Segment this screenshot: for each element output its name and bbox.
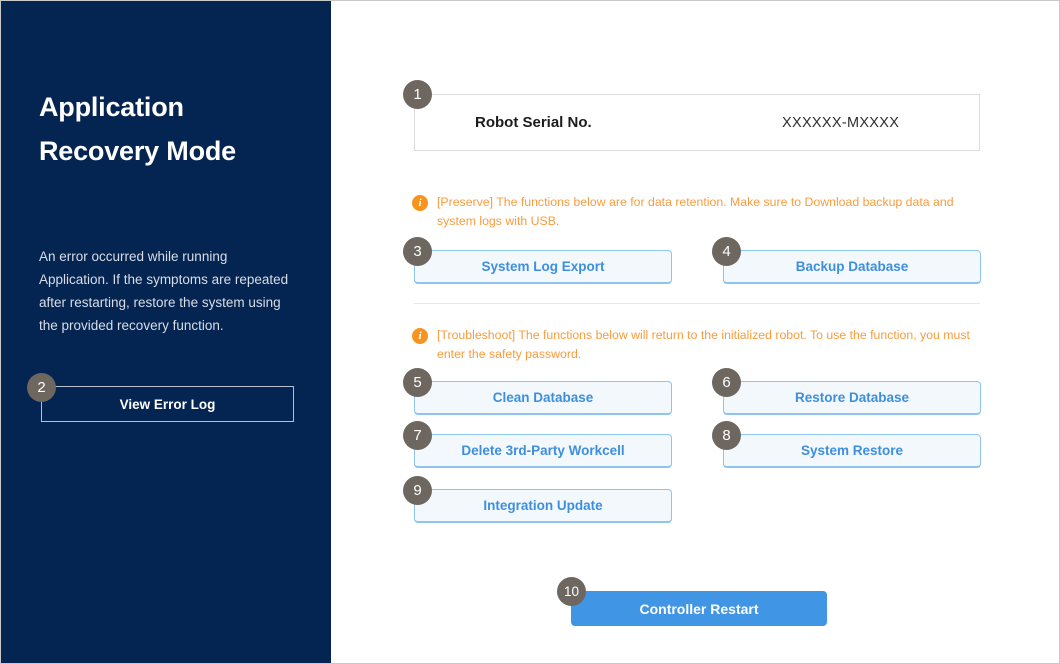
step-badge-5: 5 <box>403 368 432 397</box>
view-error-log-button[interactable]: View Error Log <box>41 386 294 422</box>
backup-database-button[interactable]: Backup Database <box>723 250 981 284</box>
controller-restart-button[interactable]: Controller Restart <box>571 591 827 626</box>
page-title: Application Recovery Mode <box>39 85 299 173</box>
preserve-notice: i [Preserve] The functions below are for… <box>412 193 972 231</box>
delete-3rd-party-workcell-button[interactable]: Delete 3rd-Party Workcell <box>414 434 672 468</box>
step-badge-6: 6 <box>712 368 741 397</box>
sidebar-description: An error occurred while running Applicat… <box>39 245 295 337</box>
robot-serial-card: Robot Serial No. XXXXXX-MXXXX <box>414 94 980 151</box>
recovery-mode-page: Application Recovery Mode An error occur… <box>0 0 1060 664</box>
step-badge-10: 10 <box>557 577 586 606</box>
step-badge-2: 2 <box>27 373 56 402</box>
troubleshoot-notice-text: [Troubleshoot] The functions below will … <box>437 326 972 364</box>
system-log-export-button[interactable]: System Log Export <box>414 250 672 284</box>
troubleshoot-notice: i [Troubleshoot] The functions below wil… <box>412 326 972 364</box>
main-panel: 1 Robot Serial No. XXXXXX-MXXXX i [Prese… <box>331 1 1059 663</box>
step-badge-1: 1 <box>403 80 432 109</box>
step-badge-3: 3 <box>403 237 432 266</box>
section-divider <box>414 303 980 304</box>
sidebar: Application Recovery Mode An error occur… <box>1 1 331 663</box>
info-icon: i <box>412 328 428 344</box>
system-restore-button[interactable]: System Restore <box>723 434 981 468</box>
step-badge-9: 9 <box>403 476 432 505</box>
step-badge-7: 7 <box>403 421 432 450</box>
restore-database-button[interactable]: Restore Database <box>723 381 981 415</box>
integration-update-button[interactable]: Integration Update <box>414 489 672 523</box>
view-error-log-group: 2 View Error Log <box>41 386 294 422</box>
robot-serial-label: Robot Serial No. <box>475 114 592 131</box>
info-icon: i <box>412 195 428 211</box>
clean-database-button[interactable]: Clean Database <box>414 381 672 415</box>
step-badge-4: 4 <box>712 237 741 266</box>
robot-serial-value: XXXXXX-MXXXX <box>782 115 899 131</box>
preserve-notice-text: [Preserve] The functions below are for d… <box>437 193 972 231</box>
step-badge-8: 8 <box>712 421 741 450</box>
